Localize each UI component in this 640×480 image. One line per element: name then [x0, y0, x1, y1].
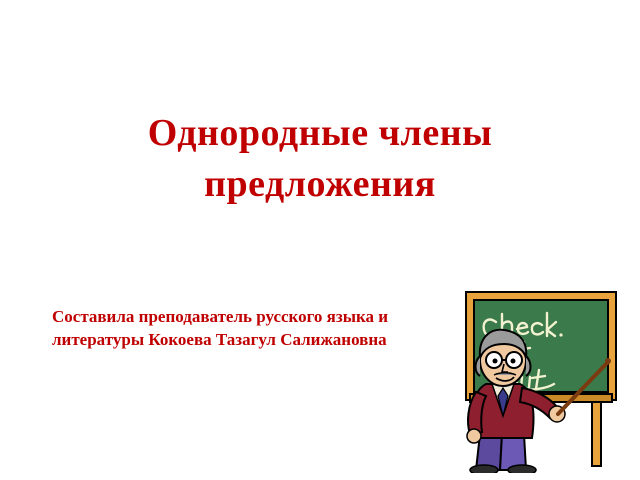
author-credit: Составила преподаватель русского языка и…: [52, 306, 442, 351]
slide-canvas: Однородные члены предложения Составила п…: [0, 0, 640, 480]
page-title-line-1: Однородные члены: [60, 108, 580, 159]
page-title: Однородные члены предложения: [60, 108, 580, 211]
teacher-at-chalkboard-illustration: [440, 288, 630, 473]
page-title-line-2: предложения: [60, 159, 580, 210]
